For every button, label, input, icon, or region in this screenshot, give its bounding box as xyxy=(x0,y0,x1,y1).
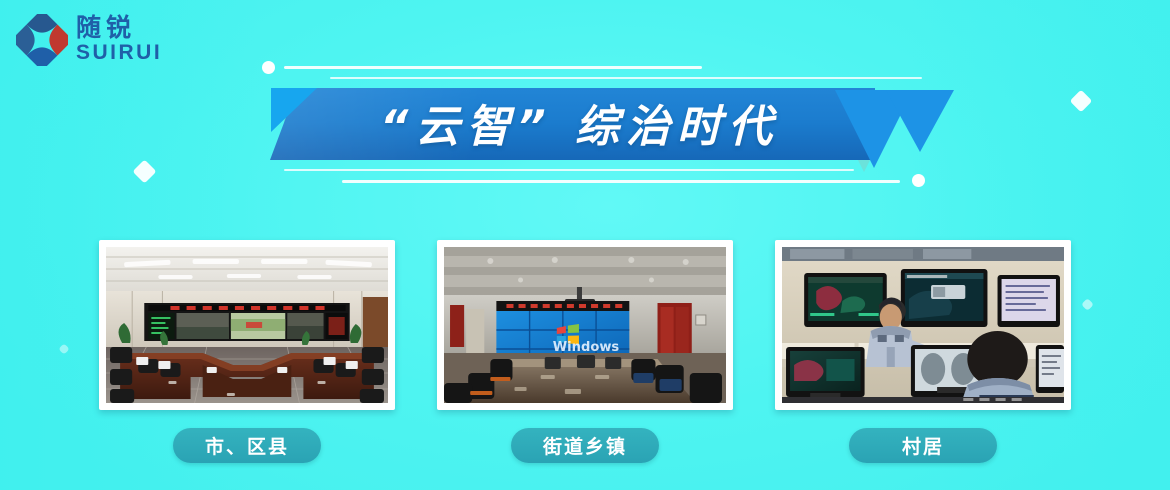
brand-wordmark: 随锐 SUIRUI xyxy=(76,15,162,65)
suirui-pinwheel-logo-icon xyxy=(16,14,68,66)
banner-bottom-line-secondary xyxy=(284,169,854,171)
card-row: 市、区县 xyxy=(0,240,1170,463)
svg-text:Windows: Windows xyxy=(553,340,620,355)
card-label-row: 市、区县 xyxy=(99,428,395,463)
brand-name-en: SUIRUI xyxy=(76,42,162,63)
photo-frame: Windows xyxy=(437,240,733,410)
brand-name-cn: 随锐 xyxy=(76,15,162,40)
label-township-button[interactable]: 街道乡镇 xyxy=(511,428,659,463)
card-village[interactable]: 村居 xyxy=(775,240,1071,463)
card-label-row: 街道乡镇 xyxy=(437,428,733,463)
banner-bottom-dot-icon xyxy=(912,174,925,187)
banner-top-line xyxy=(284,66,702,69)
title-banner: “云智” 综治时代 xyxy=(262,58,942,188)
banner-top-line-secondary xyxy=(330,77,922,79)
card-township[interactable]: Windows xyxy=(437,240,733,463)
label-village-button[interactable]: 村居 xyxy=(849,428,997,463)
township-meeting-room-photo: Windows xyxy=(444,247,726,403)
card-city-district[interactable]: 市、区县 xyxy=(99,240,395,463)
command-center-conference-room-photo xyxy=(106,247,388,403)
photo-frame xyxy=(99,240,395,410)
banner-title-text: “云智” 综治时代 xyxy=(270,91,875,155)
village-monitoring-station-photo xyxy=(782,247,1064,403)
photo-frame xyxy=(775,240,1071,410)
card-label-row: 村居 xyxy=(775,428,1071,463)
label-city-district-button[interactable]: 市、区县 xyxy=(173,428,321,463)
banner-top-dot-icon xyxy=(262,61,275,74)
banner-plate: “云智” 综治时代 xyxy=(270,88,875,160)
banner-bottom-line xyxy=(342,180,900,183)
brand-logo: 随锐 SUIRUI xyxy=(16,14,162,66)
